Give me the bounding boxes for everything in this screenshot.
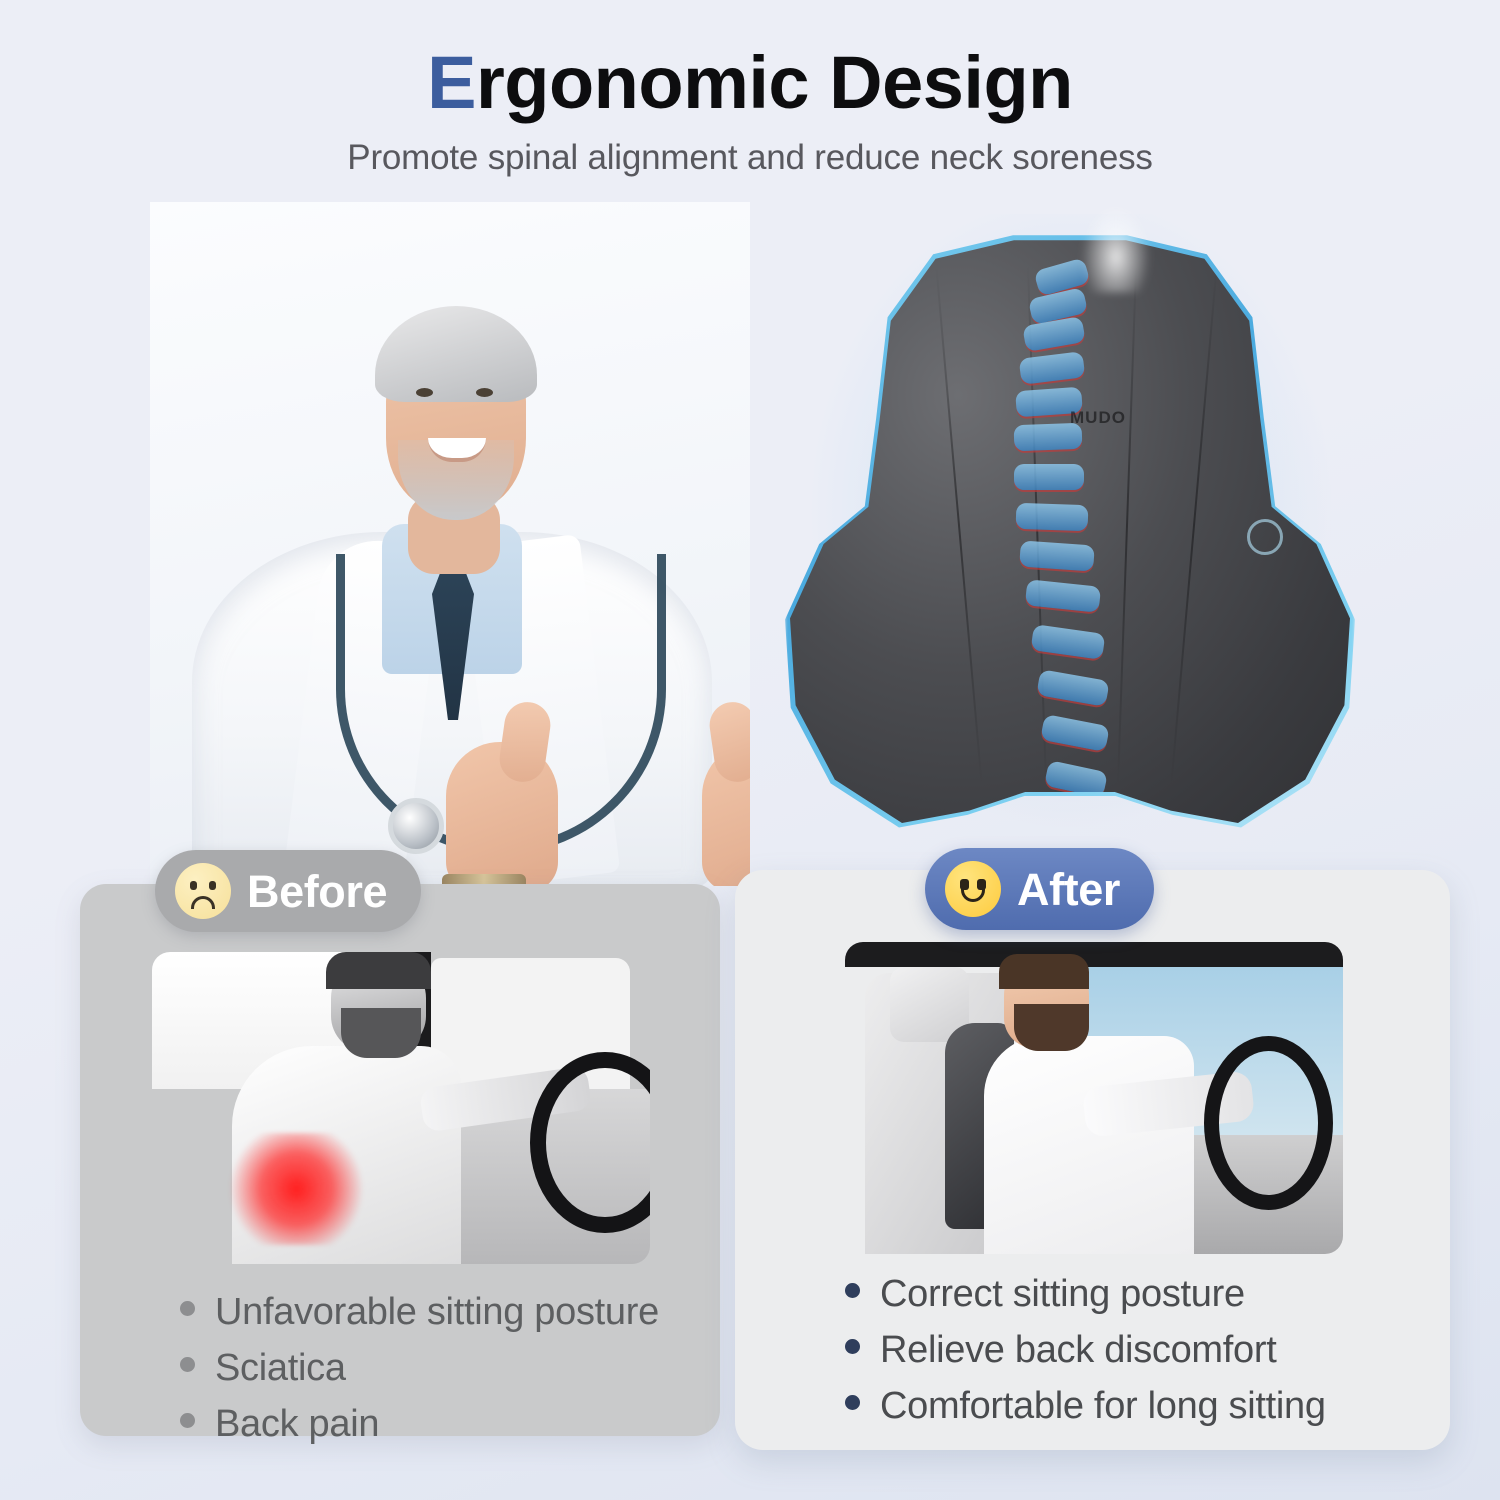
before-badge-label: Before xyxy=(247,869,387,914)
before-panel: Unfavorable sitting posture Sciatica Bac… xyxy=(80,884,720,1436)
bullet-dot-icon xyxy=(845,1395,860,1410)
list-item: Unfavorable sitting posture xyxy=(180,1284,659,1340)
doctor-eye-left xyxy=(416,388,433,397)
spine-xray-overlay xyxy=(1014,253,1124,823)
product-logo-icon xyxy=(1247,519,1283,555)
after-driver-torso xyxy=(984,1036,1193,1254)
list-item: Correct sitting posture xyxy=(845,1266,1326,1322)
list-item: Relieve back discomfort xyxy=(845,1322,1326,1378)
bullet-dot-icon xyxy=(845,1339,860,1354)
product-brand-text: MUDO xyxy=(1070,408,1126,428)
bullet-text: Unfavorable sitting posture xyxy=(215,1284,659,1340)
bullet-text: Relieve back discomfort xyxy=(880,1322,1276,1378)
after-badge: After xyxy=(925,848,1154,930)
page-title: Ergonomic Design xyxy=(0,44,1500,122)
before-badge: Before xyxy=(155,850,421,932)
before-driver-hair xyxy=(326,952,431,989)
doctor-image xyxy=(150,202,750,886)
after-driver-hair xyxy=(999,954,1089,988)
bullet-dot-icon xyxy=(180,1357,195,1372)
after-panel: Correct sitting posture Relieve back dis… xyxy=(735,870,1450,1450)
list-item: Back pain xyxy=(180,1396,659,1452)
after-photo xyxy=(845,942,1343,1254)
title-rest: rgonomic Design xyxy=(476,41,1073,124)
after-driver-beard xyxy=(1014,1004,1089,1051)
before-bullet-list: Unfavorable sitting posture Sciatica Bac… xyxy=(180,1284,659,1453)
after-roof-liner xyxy=(845,942,1343,967)
page-subtitle: Promote spinal alignment and reduce neck… xyxy=(0,138,1500,178)
list-item: Comfortable for long sitting xyxy=(845,1378,1326,1434)
cushion-seam xyxy=(935,266,982,785)
bullet-dot-icon xyxy=(180,1413,195,1428)
before-photo xyxy=(152,952,650,1264)
after-badge-label: After xyxy=(1017,867,1120,912)
doctor-thumbs-up-left-icon xyxy=(446,742,558,886)
after-bullet-list: Correct sitting posture Relieve back dis… xyxy=(845,1266,1326,1435)
before-driver-beard xyxy=(341,1008,421,1058)
sad-face-icon xyxy=(175,863,231,919)
page-header: Ergonomic Design Promote spinal alignmen… xyxy=(0,0,1500,178)
after-steering-wheel xyxy=(1204,1036,1333,1211)
bullet-text: Correct sitting posture xyxy=(880,1266,1245,1322)
doctor-eye-right xyxy=(476,388,493,397)
product-vapor-effect xyxy=(1081,203,1151,293)
bullet-text: Comfortable for long sitting xyxy=(880,1378,1326,1434)
title-accent-letter: E xyxy=(427,41,476,124)
back-pain-indicator xyxy=(222,1133,371,1245)
bullet-text: Sciatica xyxy=(215,1340,346,1396)
hero-section: MUDO xyxy=(0,196,1500,886)
bullet-text: Back pain xyxy=(215,1396,379,1452)
bullet-dot-icon xyxy=(845,1283,860,1298)
bullet-dot-icon xyxy=(180,1301,195,1316)
stethoscope-chestpiece-icon xyxy=(388,798,444,854)
product-image: MUDO xyxy=(790,234,1350,854)
cushion-seam xyxy=(1170,266,1217,785)
list-item: Sciatica xyxy=(180,1340,659,1396)
happy-face-icon xyxy=(945,861,1001,917)
